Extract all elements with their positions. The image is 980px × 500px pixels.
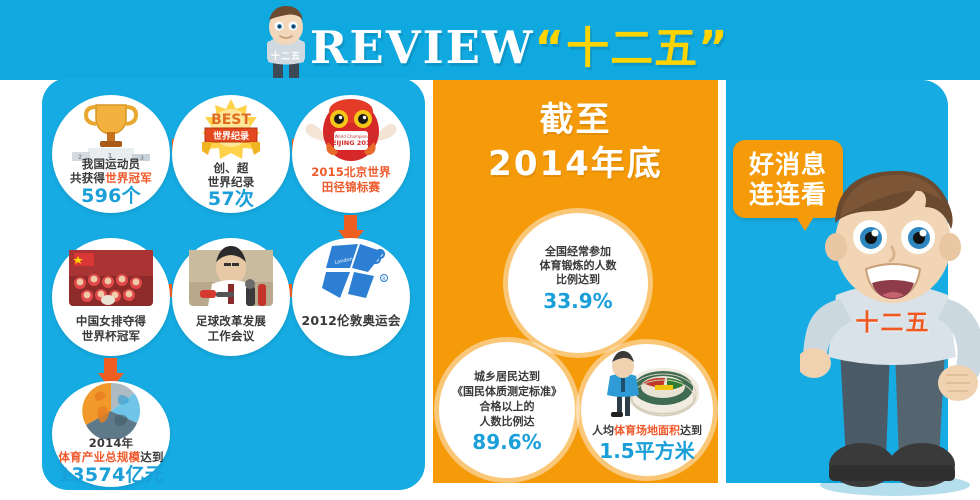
flow-node-london-2012-line1: 2012伦敦奥运会 <box>292 314 410 328</box>
flow-node-world-record-value: 57次 <box>172 189 290 210</box>
flow-node-football-reform[interactable]: 足球改革发展 工作会议 <box>172 238 290 356</box>
stat-exercise-line3: 比例达到 <box>508 273 648 288</box>
svg-text:R: R <box>382 277 386 283</box>
orange-title-line1: 截至 <box>433 98 718 142</box>
stat-venue-line1: 人均体育场地面积达到 <box>581 424 713 439</box>
stat-fitness-line3: 合格以上的 <box>439 400 575 415</box>
flow-node-beijing-2015-line1: 2015北京世界 <box>292 165 410 179</box>
stat-exercise-value: 33.9% <box>508 290 648 313</box>
flow-node-trophy-line1: 我国运动员 <box>52 157 170 171</box>
flow-node-industry-scale-value: 13574亿元 <box>52 465 170 486</box>
flow-node-trophy-line2: 共获得世界冠军 <box>52 171 170 185</box>
flow-node-football-reform-line1: 足球改革发展 <box>172 314 290 328</box>
stat-exercise-ratio[interactable]: 全国经常参加 体育锻炼的人数 比例达到 33.9% <box>508 213 648 353</box>
london-2012-logo-icon: London R <box>292 238 410 310</box>
trophy-podium-icon: 1 2 3 <box>52 95 170 165</box>
stat-exercise-line2: 体育锻炼的人数 <box>508 259 648 274</box>
volleyball-team-photo-icon <box>52 238 170 310</box>
stat-exercise-line1: 全国经常参加 <box>508 245 648 260</box>
stat-fitness-line4: 人数比例达 <box>439 415 575 430</box>
stadium-person-icon <box>581 350 713 424</box>
title-en: REVIEW <box>310 21 535 74</box>
quote-open: “ <box>535 21 567 74</box>
flow-node-trophy[interactable]: 1 2 3 我国运动员 共获得世界冠军 596个 <box>52 95 170 213</box>
flow-node-volleyball-line1: 中国女排夺得 <box>52 314 170 328</box>
svg-text:BEST: BEST <box>211 112 251 128</box>
press-conference-photo-icon <box>172 238 290 310</box>
stat-fitness-standard[interactable]: 城乡居民达到 《国民体质测定标准》 合格以上的 人数比例达 89.6% <box>439 342 575 478</box>
stat-fitness-line2: 《国民体质测定标准》 <box>439 385 575 400</box>
page-title: REVIEW“十二五” <box>310 14 730 76</box>
svg-text:BEIJING 2015: BEIJING 2015 <box>327 139 375 147</box>
best-ribbon-text: 世界纪录 <box>213 130 249 142</box>
flow-node-world-record[interactable]: BEST 世界纪录 创、超 世界纪录 57次 <box>172 95 290 213</box>
flow-node-trophy-value: 596个 <box>52 186 170 207</box>
flow-node-industry-scale-line1: 2014年 <box>52 436 170 450</box>
globe-pie-chart-icon <box>52 381 170 439</box>
flow-node-industry-scale[interactable]: 2014年 体育产业总规模达到 13574亿元 <box>52 381 170 487</box>
flow-node-football-reform-line2: 工作会议 <box>172 329 290 343</box>
flow-node-volleyball-line2: 世界杯冠军 <box>52 329 170 343</box>
flow-node-volleyball[interactable]: 中国女排夺得 世界杯冠军 <box>52 238 170 356</box>
flow-node-industry-scale-line2: 体育产业总规模达到 <box>52 450 170 464</box>
mascot-large-shirt-text: 十二五 <box>838 303 948 337</box>
stat-fitness-value: 89.6% <box>439 431 575 454</box>
orange-title-line2: 2014年底 <box>433 142 718 186</box>
flow-node-beijing-2015[interactable]: IAAF World Championships BEIJING 2015 20… <box>292 95 410 213</box>
stat-venue-area[interactable]: 人均体育场地面积达到 1.5平方米 <box>581 344 713 476</box>
beijing-2015-mascot-icon: IAAF World Championships BEIJING 2015 <box>292 95 410 167</box>
stat-venue-value: 1.5平方米 <box>581 440 713 463</box>
flow-node-london-2012[interactable]: London R 2012伦敦奥运会 <box>292 238 410 356</box>
title-cn: 十二五 <box>566 24 698 74</box>
orange-stats-panel: 截至 2014年底 全国经常参加 体育锻炼的人数 比例达到 33.9% 城乡居民… <box>433 80 718 483</box>
stat-fitness-line1: 城乡居民达到 <box>439 370 575 385</box>
flow-node-world-record-line2: 世界纪录 <box>172 175 290 189</box>
flow-node-beijing-2015-line2: 田径锦标赛 <box>292 180 410 194</box>
flow-node-world-record-line1: 创、超 <box>172 161 290 175</box>
orange-panel-title: 截至 2014年底 <box>433 98 718 186</box>
best-badge-icon: BEST 世界纪录 <box>172 95 290 165</box>
infographic-canvas: 十二五 REVIEW“十二五” 1 2 3 我国运动员 共获得世界冠军 596个 <box>0 0 980 500</box>
quote-close: ” <box>698 21 730 74</box>
